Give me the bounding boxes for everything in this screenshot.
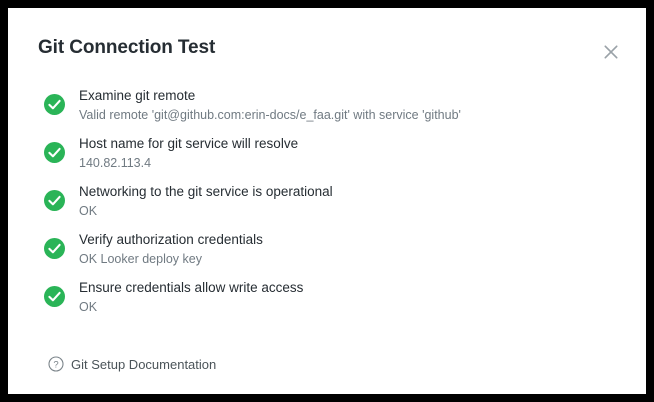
check-list: Examine git remote Valid remote 'git@git… (8, 86, 646, 326)
dialog-header: Git Connection Test (8, 8, 646, 66)
git-connection-test-dialog: Git Connection Test Examine git remote V… (8, 8, 646, 394)
check-detail: Valid remote 'git@github.com:erin-docs/e… (79, 106, 646, 125)
list-item: Host name for git service will resolve 1… (8, 134, 646, 182)
list-item: Networking to the git service is operati… (8, 182, 646, 230)
page-title: Git Connection Test (38, 37, 215, 59)
check-circle-icon (44, 142, 65, 163)
list-item-text: Host name for git service will resolve 1… (44, 134, 646, 173)
list-item-text: Networking to the git service is operati… (44, 182, 646, 221)
check-detail: OK Looker deploy key (79, 250, 646, 269)
svg-text:?: ? (53, 360, 58, 371)
check-circle-icon (44, 190, 65, 211)
dialog-footer: ? Git Setup Documentation (8, 356, 216, 372)
check-label: Host name for git service will resolve (79, 134, 646, 153)
list-item-text: Ensure credentials allow write access OK (44, 278, 646, 317)
check-detail: OK (79, 202, 646, 221)
check-circle-icon (44, 238, 65, 259)
list-item: Ensure credentials allow write access OK (8, 278, 646, 326)
check-detail: OK (79, 298, 646, 317)
check-label: Networking to the git service is operati… (79, 182, 646, 201)
close-button[interactable] (598, 39, 624, 65)
check-label: Ensure credentials allow write access (79, 278, 646, 297)
list-item-text: Verify authorization credentials OK Look… (44, 230, 646, 269)
check-label: Verify authorization credentials (79, 230, 646, 249)
list-item: Verify authorization credentials OK Look… (8, 230, 646, 278)
list-item-text: Examine git remote Valid remote 'git@git… (44, 86, 646, 125)
check-circle-icon (44, 286, 65, 307)
close-icon (604, 45, 618, 59)
git-setup-documentation-link[interactable]: Git Setup Documentation (71, 357, 216, 372)
check-detail: 140.82.113.4 (79, 154, 646, 173)
check-label: Examine git remote (79, 86, 646, 105)
list-item: Examine git remote Valid remote 'git@git… (8, 86, 646, 134)
question-circle-icon: ? (48, 356, 64, 372)
check-circle-icon (44, 94, 65, 115)
